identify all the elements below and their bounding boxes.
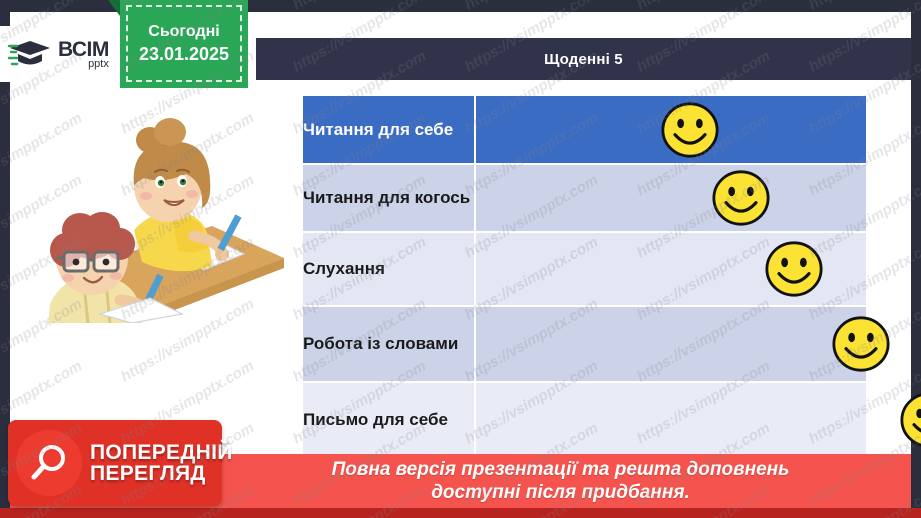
graduation-cap-icon — [8, 37, 54, 71]
row-face-cell — [475, 232, 866, 306]
row-label: Робота із словами — [303, 306, 475, 382]
preview-badge[interactable]: ПОПЕРЕДНІЙ ПЕРЕГЛЯД — [8, 420, 222, 506]
magnifier-icon — [16, 430, 82, 496]
row-face-cell — [475, 164, 866, 232]
preview-badge-text: ПОПЕРЕДНІЙ ПЕРЕГЛЯД — [90, 442, 233, 485]
table-row[interactable]: Слухання — [303, 232, 866, 306]
page-title: Щоденні 5 — [544, 51, 623, 68]
slide-root: ВСІМ pptx Сьогодні 23.01.2025 Щоденні 5 — [0, 0, 921, 518]
row-label: Читання для себе — [303, 96, 475, 164]
row-face-cell — [475, 382, 866, 456]
table-row[interactable]: Читання для себе — [303, 96, 866, 164]
kids-writing-illustration — [22, 108, 290, 323]
table-row[interactable]: Читання для когось — [303, 164, 866, 232]
row-face-cell — [475, 306, 866, 382]
brand-logo-text: ВСІМ pptx — [58, 39, 109, 70]
purchase-notice-line1: Повна версія презентації та решта доповн… — [332, 459, 790, 480]
smiley-face-icon — [711, 169, 771, 227]
smiley-face-icon — [660, 101, 720, 159]
today-date: 23.01.2025 — [139, 44, 229, 65]
brand-logo-main: ВСІМ — [58, 39, 109, 60]
today-label: Сьогодні — [148, 23, 219, 41]
purchase-notice-line2: доступні після придбання. — [431, 482, 690, 503]
badge-fold-corner — [108, 0, 120, 16]
table-row[interactable]: Письмо для себе — [303, 382, 866, 456]
row-label: Письмо для себе — [303, 382, 475, 456]
row-label: Читання для когось — [303, 164, 475, 232]
preview-badge-line1: ПОПЕРЕДНІЙ — [90, 442, 233, 463]
preview-badge-line2: ПЕРЕГЛЯД — [90, 463, 233, 484]
smiley-face-icon — [831, 315, 891, 373]
daily-five-table: Читання для себе Читання для когось — [303, 96, 866, 456]
smiley-face-icon — [764, 240, 824, 298]
row-label: Слухання — [303, 232, 475, 306]
slide-header-bar: Щоденні 5 — [256, 38, 911, 80]
today-date-badge: Сьогодні 23.01.2025 — [120, 0, 248, 88]
table-row[interactable]: Робота із словами — [303, 306, 866, 382]
brand-logo[interactable]: ВСІМ pptx — [0, 26, 120, 82]
row-face-cell — [475, 96, 866, 164]
banner-bottom-strip — [0, 508, 921, 518]
smiley-face-icon — [899, 391, 921, 449]
